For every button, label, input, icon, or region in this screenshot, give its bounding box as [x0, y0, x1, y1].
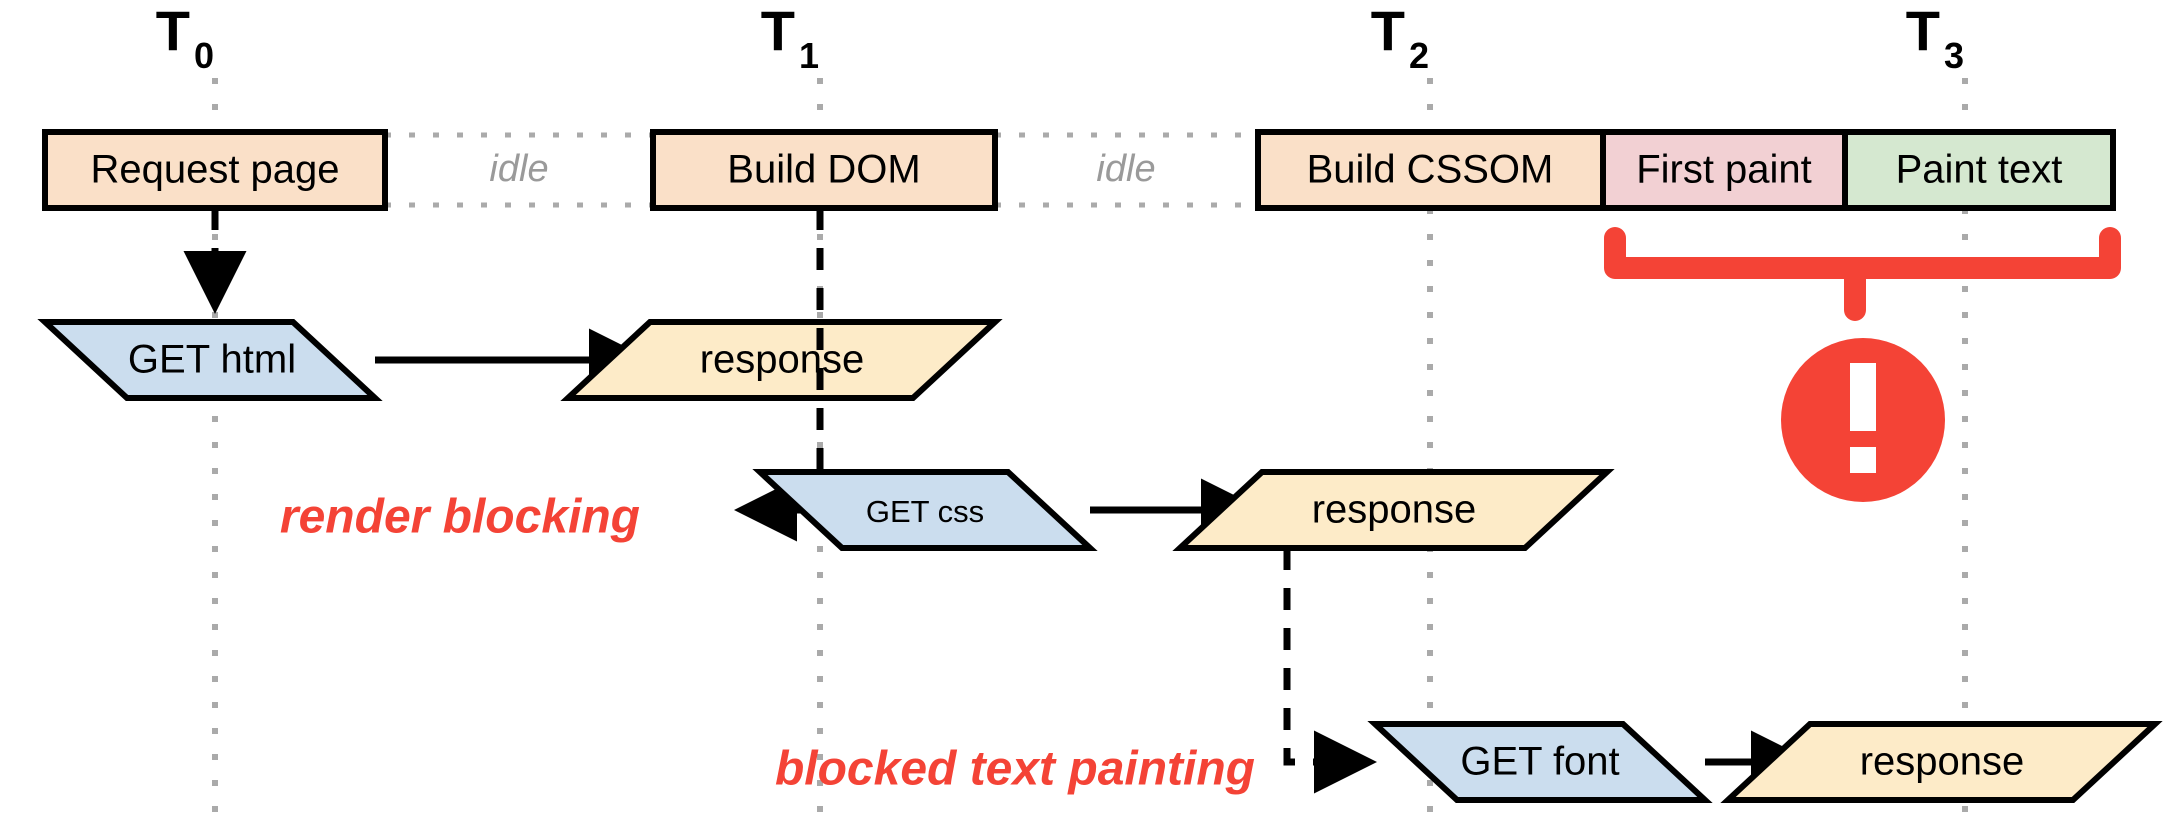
- tick-label-t0: T 0: [156, 0, 214, 76]
- tick-base-t2: T: [1371, 0, 1405, 62]
- render-blocking-note: render blocking: [280, 491, 640, 544]
- timeline-block-request-page[interactable]: Request page: [45, 132, 385, 208]
- tick-labels: T 0 T 1 T 2 T 3: [156, 0, 1964, 76]
- tick-sub-t3: 3: [1944, 35, 1964, 76]
- tick-base-t0: T: [156, 0, 190, 62]
- tick-label-t3: T 3: [1906, 0, 1964, 76]
- tick-sub-t2: 2: [1409, 35, 1429, 76]
- shape-get-font[interactable]: GET font: [1375, 724, 1705, 800]
- idle-label-1: idle: [489, 148, 548, 190]
- timeline-track: Request page Build DOM Build CSSOM First…: [45, 132, 2113, 208]
- tick-base-t1: T: [761, 0, 795, 62]
- timeline-block-build-dom[interactable]: Build DOM: [653, 132, 995, 208]
- request-page-label: Request page: [90, 148, 339, 192]
- shape-response-html[interactable]: response: [568, 322, 995, 398]
- diagram-canvas: T 0 T 1 T 2 T 3 idle idle: [0, 0, 2177, 824]
- build-dom-label: Build DOM: [727, 148, 920, 192]
- response-html-label: response: [700, 338, 865, 382]
- get-html-label: GET html: [128, 338, 296, 382]
- timeline-block-first-paint[interactable]: First paint: [1603, 132, 1845, 208]
- response-font-label: response: [1860, 740, 2025, 784]
- response-css-label: response: [1312, 488, 1477, 532]
- get-font-label: GET font: [1460, 740, 1619, 784]
- first-paint-label: First paint: [1636, 148, 1812, 192]
- paint-text-label: Paint text: [1896, 148, 2063, 192]
- tick-label-t2: T 2: [1371, 0, 1429, 76]
- timeline-block-paint-text[interactable]: Paint text: [1845, 132, 2113, 208]
- idle-label-2: idle: [1096, 148, 1155, 190]
- shape-get-css[interactable]: GET css: [760, 472, 1090, 548]
- critical-rendering-path-diagram: T 0 T 1 T 2 T 3 idle idle: [0, 0, 2177, 824]
- tick-base-t3: T: [1906, 0, 1940, 62]
- warning-bang-dot: [1850, 447, 1876, 473]
- shape-get-html[interactable]: GET html: [45, 322, 375, 398]
- warning-bracket-shape: [1615, 238, 2110, 310]
- response-css-to-get-font-connector: [1287, 548, 1363, 762]
- get-css-label: GET css: [866, 494, 984, 529]
- tick-label-t1: T 1: [761, 0, 819, 76]
- build-cssom-label: Build CSSOM: [1307, 148, 1554, 192]
- warning-bang-stem: [1850, 363, 1876, 431]
- warning-bracket: [1615, 238, 2110, 310]
- exclamation-circle-icon: [1781, 338, 1945, 502]
- blocked-text-painting-note: blocked text painting: [775, 743, 1255, 796]
- tick-sub-t0: 0: [194, 35, 214, 76]
- tick-sub-t1: 1: [799, 35, 819, 76]
- shape-response-font[interactable]: response: [1728, 724, 2155, 800]
- shape-response-css[interactable]: response: [1180, 472, 1607, 548]
- timeline-block-build-cssom[interactable]: Build CSSOM: [1258, 132, 1603, 208]
